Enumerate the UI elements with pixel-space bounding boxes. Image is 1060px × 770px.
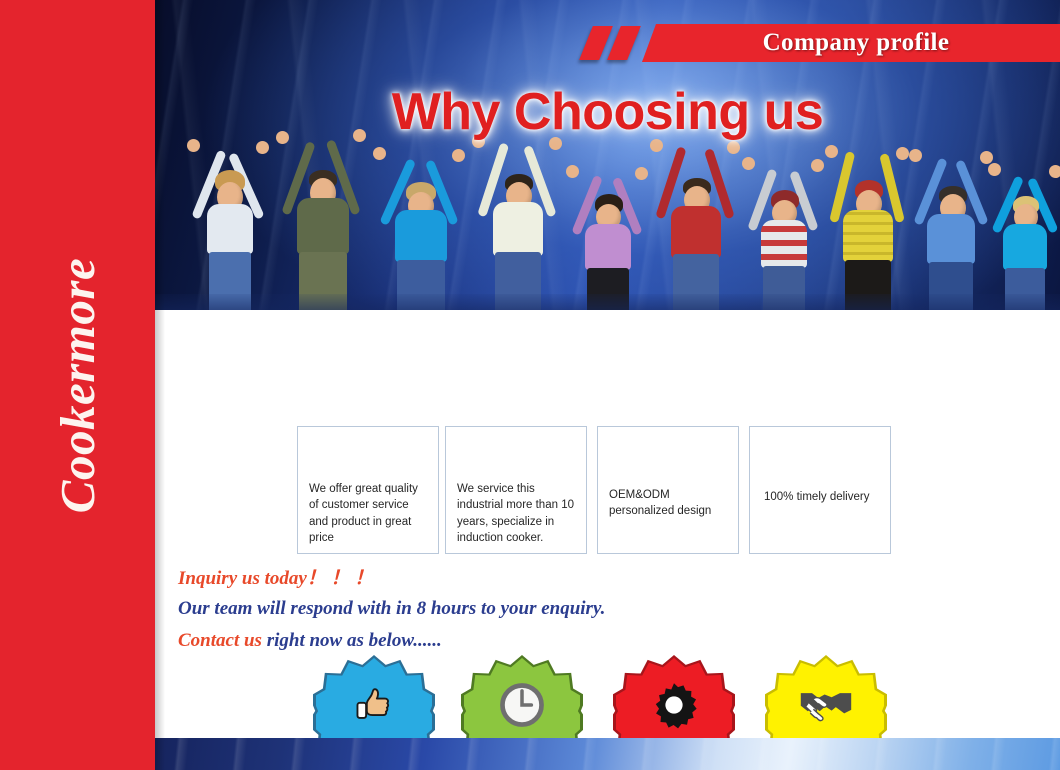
card-description: OEM&ODM personalized design [609, 487, 729, 520]
card-description: We service this industrial more than 10 … [457, 481, 577, 546]
card-description: We offer great quality of customer servi… [309, 481, 429, 546]
contact-us-suffix: right now as below...... [262, 630, 442, 651]
feature-card-oem-odm[interactable]: OEM&ODM personalized design [597, 426, 739, 554]
person [469, 128, 565, 310]
ribbon-title: Company profile [753, 29, 950, 57]
banner-base-shadow [155, 294, 1060, 310]
person [739, 152, 827, 310]
person [821, 138, 913, 310]
person [185, 132, 271, 310]
cheering-people-photo [155, 120, 1060, 310]
sidebar-shadow [155, 0, 165, 770]
person [369, 140, 469, 310]
clock-icon [461, 677, 583, 733]
footer-band [155, 738, 1060, 770]
person [987, 160, 1060, 310]
feature-card-delivery[interactable]: 100% timely delivery [749, 426, 891, 554]
feature-card-quality[interactable]: We offer great quality of customer servi… [297, 426, 439, 554]
person [647, 134, 743, 310]
hero-title: Why Choosing us [155, 82, 1060, 142]
company-profile-ribbon: Company profile [642, 24, 1060, 62]
person [273, 124, 369, 310]
left-sidebar [0, 0, 155, 770]
footer-rays-decoration [155, 738, 1060, 770]
person [907, 144, 995, 310]
contact-us-label: Contact us [178, 630, 262, 651]
response-line: Our team will respond with in 8 hours to… [178, 598, 605, 620]
feature-card-experiences[interactable]: We service this industrial more than 10 … [445, 426, 587, 554]
slide-canvas: Cookermore [0, 0, 1060, 770]
person [563, 158, 651, 310]
thumbs-up-icon [313, 677, 435, 733]
card-description: 100% timely delivery [764, 489, 881, 505]
gear-icon [613, 677, 735, 733]
inquiry-line: Inquiry us today！ ！ ！ [178, 563, 605, 590]
contact-line: Contact us right now as below...... [178, 630, 605, 652]
closing-copy: Inquiry us today！ ！ ！ Our team will resp… [178, 563, 605, 652]
handshake-icon [765, 677, 887, 733]
content-area: We offer great quality of customer servi… [155, 310, 1060, 738]
